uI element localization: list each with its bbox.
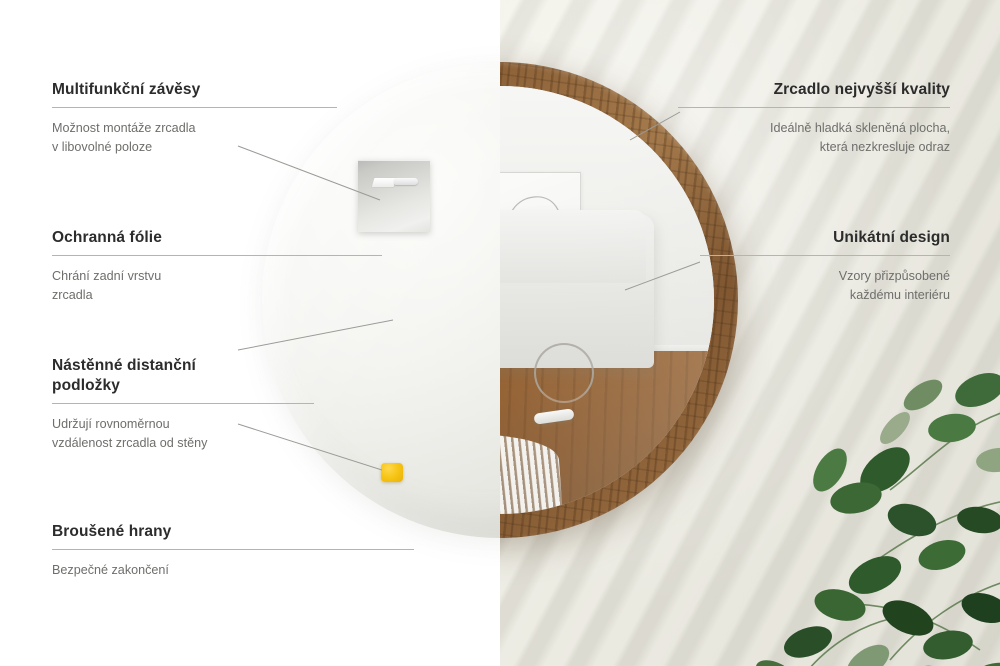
callout-body-line2: vzdálenost zrcadla od stěny — [52, 436, 207, 450]
callout-body: Udržují rovnoměrnou vzdálenost zrcadla o… — [52, 415, 414, 454]
callout-rule — [52, 107, 337, 108]
callout-brousene-hrany: Broušené hrany Bezpečné zakončení — [52, 522, 414, 580]
callout-multifunkcni-zavesy: Multifunkční závěsy Možnost montáže zrca… — [52, 80, 414, 158]
callout-title: Multifunkční závěsy — [52, 80, 414, 100]
callout-body-line1: Bezpečné zakončení — [52, 563, 169, 577]
callout-nastenne-distancni-podlozky: Nástěnné distanční podložky Udržují rovn… — [52, 356, 414, 454]
callout-body: Vzory přizpůsobené každému interiéru — [618, 267, 950, 306]
callout-title: Broušené hrany — [52, 522, 414, 542]
callout-body-line2: každému interiéru — [850, 288, 950, 302]
callout-body-line2: která nezkresluje odraz — [820, 140, 950, 154]
callout-title: Ochranná fólie — [52, 228, 414, 248]
callout-title: Nástěnné distanční podložky — [52, 356, 414, 396]
callout-rule — [52, 403, 314, 404]
callout-rule — [678, 107, 950, 108]
infographic-canvas: Multifunkční závěsy Možnost montáže zrca… — [0, 0, 1000, 666]
callout-rule — [700, 255, 950, 256]
yellow-spacer-pad — [381, 463, 403, 482]
callout-zrcadlo-nejvyssi-kvality: Zrcadlo nejvyšší kvality Ideálně hladká … — [618, 80, 950, 158]
callout-body-line1: Udržují rovnoměrnou — [52, 417, 170, 431]
reflected-hoop-decoration — [534, 343, 594, 403]
callout-body: Bezpečné zakončení — [52, 561, 414, 581]
callout-body-line1: Možnost montáže zrcadla — [52, 121, 196, 135]
callout-body: Možnost montáže zrcadla v libovolné polo… — [52, 119, 414, 158]
callout-title: Zrcadlo nejvyšší kvality — [618, 80, 950, 100]
callout-ochranna-folie: Ochranná fólie Chrání zadní vrstvu zrcad… — [52, 228, 414, 306]
callout-body-line2: zrcadla — [52, 288, 93, 302]
callout-title-line1: Nástěnné distanční — [52, 357, 196, 374]
callout-body-line1: Chrání zadní vrstvu — [52, 269, 161, 283]
callout-title-line2: podložky — [52, 377, 120, 394]
callout-body: Chrání zadní vrstvu zrcadla — [52, 267, 414, 306]
callout-unikatni-design: Unikátní design Vzory přizpůsobené každé… — [618, 228, 950, 306]
hanger-tab-icon — [394, 178, 418, 185]
callout-body-line1: Ideálně hladká skleněná plocha, — [770, 121, 950, 135]
callout-title: Unikátní design — [618, 228, 950, 248]
callout-body-line1: Vzory přizpůsobené — [839, 269, 950, 283]
callout-rule — [52, 255, 382, 256]
callout-body-line2: v libovolné poloze — [52, 140, 152, 154]
callout-body: Ideálně hladká skleněná plocha, která ne… — [618, 119, 950, 158]
hanger-plate — [358, 160, 430, 232]
callout-rule — [52, 549, 414, 550]
